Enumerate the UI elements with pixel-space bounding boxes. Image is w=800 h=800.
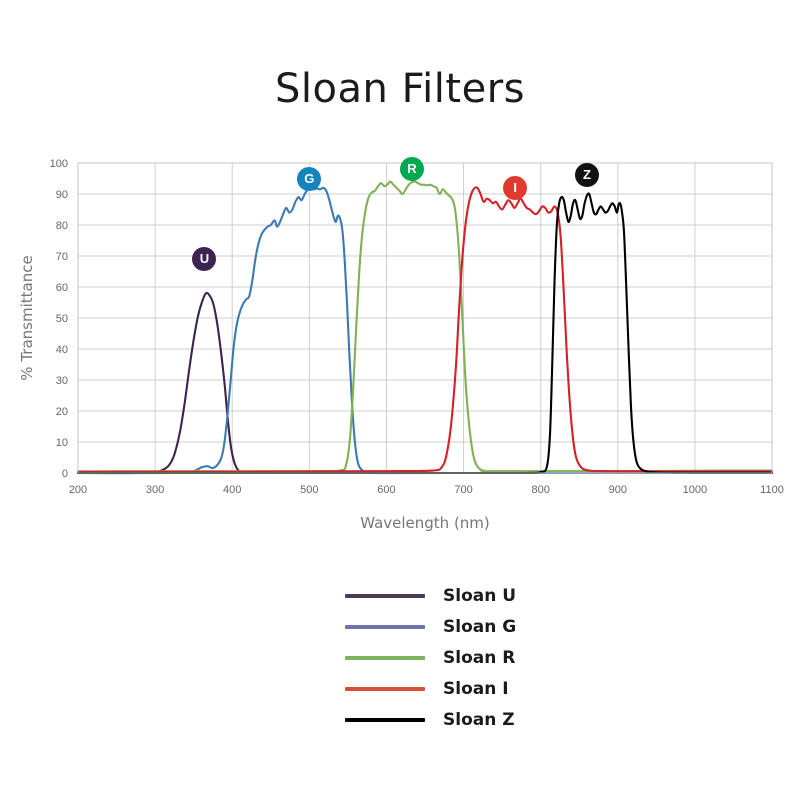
legend-item[interactable]: Sloan G xyxy=(345,611,575,642)
legend-item[interactable]: Sloan Z xyxy=(345,704,575,735)
y-tick-label: 20 xyxy=(56,406,68,418)
legend-color-swatch xyxy=(345,687,425,691)
y-tick-label: 50 xyxy=(56,313,68,325)
x-tick-label: 600 xyxy=(377,484,395,496)
plot-area: 0102030405060708090100200300400500600700… xyxy=(0,0,800,560)
filter-badge-g: G xyxy=(297,167,321,191)
filter-badge-r: R xyxy=(400,157,424,181)
x-tick-label: 800 xyxy=(531,484,549,496)
legend-item[interactable]: Sloan R xyxy=(345,642,575,673)
x-tick-label: 500 xyxy=(300,484,318,496)
y-axis-title: % Transmittance xyxy=(18,255,36,380)
chart-svg: 0102030405060708090100200300400500600700… xyxy=(0,0,800,560)
y-tick-label: 90 xyxy=(56,189,68,201)
legend-item[interactable]: Sloan U xyxy=(345,580,575,611)
legend-color-swatch xyxy=(345,718,425,722)
y-tick-label: 60 xyxy=(56,282,68,294)
y-tick-label: 30 xyxy=(56,375,68,387)
chart-card: Sloan Filters 01020304050607080901002003… xyxy=(0,0,800,800)
legend-item-label: Sloan R xyxy=(443,648,515,668)
y-tick-label: 10 xyxy=(56,437,68,449)
legend-color-swatch xyxy=(345,656,425,660)
legend-item-label: Sloan G xyxy=(443,617,516,637)
y-tick-label: 40 xyxy=(56,344,68,356)
y-tick-label: 100 xyxy=(50,158,68,170)
x-tick-label: 700 xyxy=(454,484,472,496)
y-axis-ticks: 0102030405060708090100 xyxy=(50,158,68,480)
y-tick-label: 0 xyxy=(62,468,68,480)
x-tick-label: 900 xyxy=(609,484,627,496)
legend-item-label: Sloan I xyxy=(443,679,509,699)
x-axis-title: Wavelength (nm) xyxy=(360,514,490,532)
x-tick-label: 300 xyxy=(146,484,164,496)
legend-color-swatch xyxy=(345,594,425,598)
x-tick-label: 1100 xyxy=(760,484,784,496)
legend-color-swatch xyxy=(345,625,425,629)
y-tick-label: 80 xyxy=(56,220,68,232)
x-axis-ticks: 20030040050060070080090010001100 xyxy=(69,484,784,496)
filter-badge-i: I xyxy=(503,176,527,200)
x-tick-label: 200 xyxy=(69,484,87,496)
chart-legend: Sloan USloan GSloan RSloan ISloan Z xyxy=(345,580,575,735)
legend-item-label: Sloan U xyxy=(443,586,516,606)
y-tick-label: 70 xyxy=(56,251,68,263)
x-tick-label: 400 xyxy=(223,484,241,496)
legend-item-label: Sloan Z xyxy=(443,710,515,730)
x-tick-label: 1000 xyxy=(683,484,707,496)
legend-item[interactable]: Sloan I xyxy=(345,673,575,704)
